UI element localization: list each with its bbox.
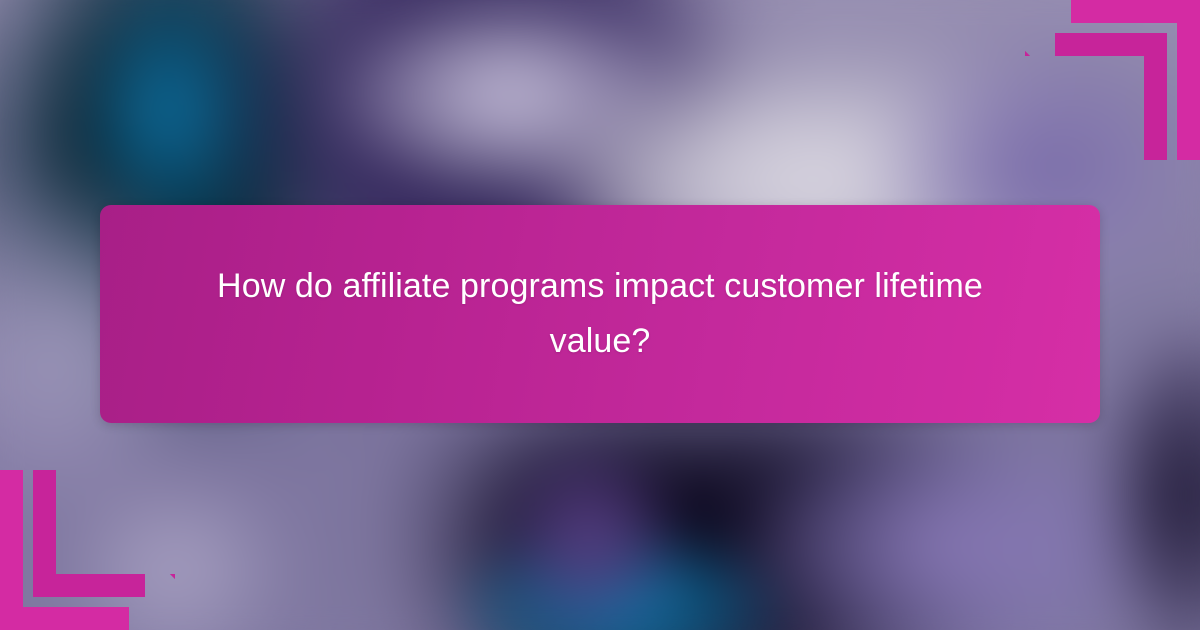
question-card: How do affiliate programs impact custome…: [0, 0, 1200, 630]
question-banner: How do affiliate programs impact custome…: [100, 205, 1100, 423]
question-text: How do affiliate programs impact custome…: [150, 259, 1050, 369]
